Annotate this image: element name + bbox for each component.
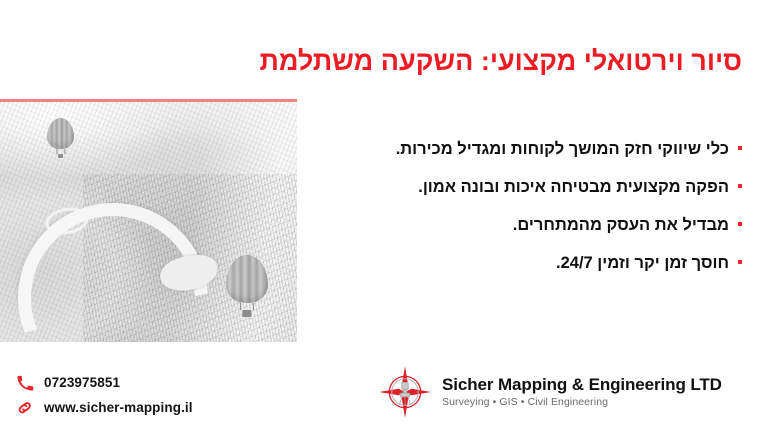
list-item: הפקה מקצועית מבטיחה איכות ובונה אמון. xyxy=(272,177,742,215)
contact-website-row[interactable]: www.sicher-mapping.il xyxy=(14,395,274,420)
balloon-ropes xyxy=(240,303,254,310)
website-url: www.sicher-mapping.il xyxy=(44,400,193,415)
list-item: כלי שיווקי חזק המושך לקוחות ומגדיל מכירו… xyxy=(272,139,742,177)
hot-air-balloon-icon xyxy=(226,255,268,317)
list-item: מבדיל את העסק מהמתחרים. xyxy=(272,215,742,253)
link-icon xyxy=(14,397,36,419)
bullet-marker-icon xyxy=(738,222,742,226)
company-name: Sicher Mapping & Engineering LTD xyxy=(442,374,722,395)
slide-canvas: סיור וירטואלי מקצועי: השקעה משתלמת xyxy=(0,0,768,432)
bullet-marker-icon xyxy=(738,146,742,150)
aerial-cityscape-image xyxy=(0,102,297,342)
company-logo: Sicher Mapping & Engineering LTD Surveyi… xyxy=(378,365,722,419)
contact-info: 0723975851 www.sicher-mapping.il xyxy=(14,370,274,420)
phone-number: 0723975851 xyxy=(44,375,120,390)
benefits-list: כלי שיווקי חזק המושך לקוחות ומגדיל מכירו… xyxy=(272,139,742,291)
hot-air-balloon-icon xyxy=(47,118,74,158)
list-item-label: חוסך זמן יקר וזמין 24/7. xyxy=(556,253,729,273)
list-item-label: כלי שיווקי חזק המושך לקוחות ומגדיל מכירו… xyxy=(396,139,729,159)
balloon-basket xyxy=(58,154,64,158)
bullet-marker-icon xyxy=(738,184,742,188)
list-item-label: מבדיל את העסק מהמתחרים. xyxy=(513,215,729,235)
compass-rose-icon xyxy=(378,365,432,419)
logo-text-block: Sicher Mapping & Engineering LTD Surveyi… xyxy=(442,374,722,410)
balloon-envelope xyxy=(47,118,74,149)
balloon-envelope xyxy=(226,255,268,303)
hero-image-panel xyxy=(0,99,297,342)
list-item-label: הפקה מקצועית מבטיחה איכות ובונה אמון. xyxy=(418,177,729,197)
balloon-basket xyxy=(242,310,251,317)
bullet-marker-icon xyxy=(738,260,742,264)
company-tagline: Surveying • GIS • Civil Engineering xyxy=(442,395,722,410)
list-item: חוסך זמן יקר וזמין 24/7. xyxy=(272,253,742,291)
phone-icon xyxy=(14,372,36,394)
page-title: סיור וירטואלי מקצועי: השקעה משתלמת xyxy=(0,44,742,78)
contact-phone-row[interactable]: 0723975851 xyxy=(14,370,274,395)
